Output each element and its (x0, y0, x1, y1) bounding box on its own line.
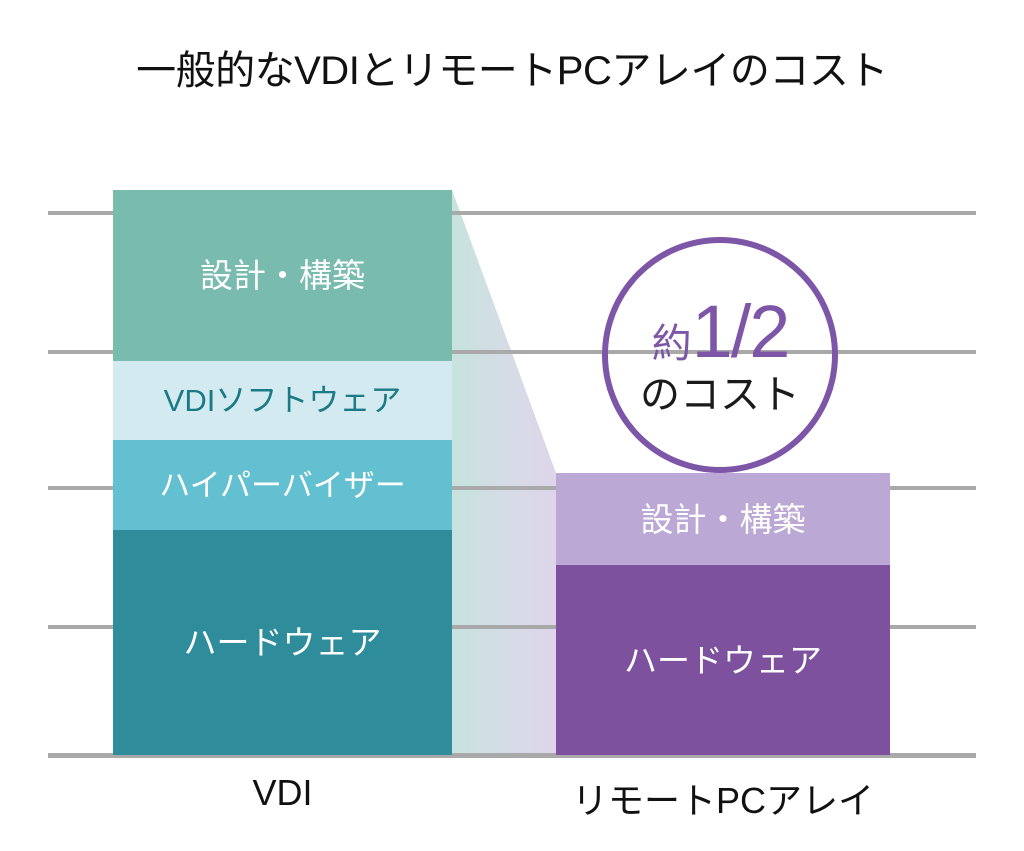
bar-segment-vdi-hypervisor[interactable]: ハイパーバイザー (113, 440, 452, 530)
bar-segment-rpa-hardware[interactable]: ハードウェア (556, 565, 890, 755)
category-label-remote-pc-array: リモートPCアレイ (556, 772, 890, 824)
bar-segment-rpa-design-build[interactable]: 設計・構築 (556, 473, 890, 565)
bar-segment-label: ハードウェア (624, 644, 822, 677)
bar-segment-label: ハイパーバイザー (159, 470, 405, 501)
category-label-vdi: VDI (113, 772, 452, 814)
half-cost-badge: 約 1/2 のコスト (602, 237, 838, 473)
badge-fraction-value: 1/2 (692, 295, 789, 369)
plot-area: 設計・構築 VDIソフトウェア ハイパーバイザー ハードウェア 設計・構築 ハー… (0, 0, 1024, 851)
bar-segment-vdi-design-build[interactable]: 設計・構築 (113, 190, 452, 361)
bar-segment-label: 設計・構築 (200, 259, 365, 292)
badge-caption: のコスト (640, 375, 800, 415)
badge-fraction-row: 約 1/2 (652, 295, 789, 369)
bar-segment-label: ハードウェア (184, 626, 382, 659)
bar-segment-vdi-hardware[interactable]: ハードウェア (113, 530, 452, 755)
bar-segment-label: 設計・構築 (641, 503, 806, 536)
bar-segment-vdi-software[interactable]: VDIソフトウェア (113, 361, 452, 440)
chart-canvas: 一般的なVDIとリモートPCアレイのコスト 設計・構築 (0, 0, 1024, 851)
bar-segment-label: VDIソフトウェア (164, 385, 402, 416)
badge-approx-label: 約 (652, 324, 692, 364)
